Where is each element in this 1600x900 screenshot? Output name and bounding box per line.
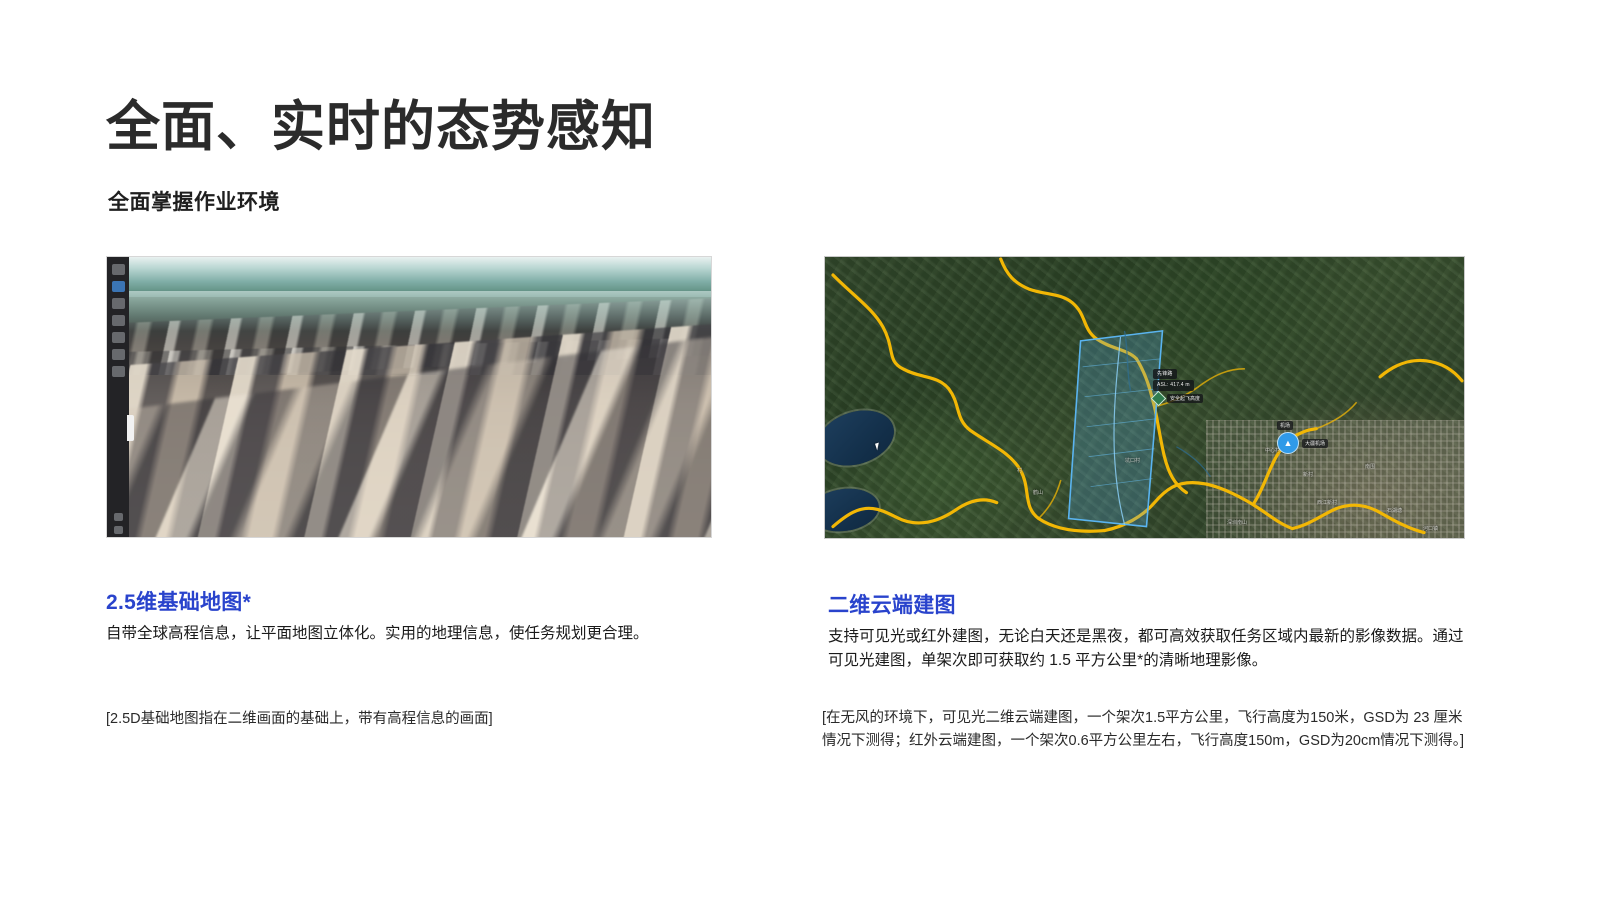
map-vector-overlay [825,257,1464,539]
place-label: 河口镇 [1423,525,1438,532]
layers-icon[interactable] [112,264,125,275]
panel-icon[interactable] [114,526,123,534]
terrain-toolbar-rail[interactable] [107,257,129,537]
place-label: 村 [1017,467,1022,474]
media-icon[interactable] [112,366,125,377]
left-column [106,256,712,538]
panel-collapse-handle[interactable] [127,415,134,441]
place-label: 新村 [1303,471,1313,478]
terrain-near-ridges [107,375,711,537]
left-caption-body: 自带全球高程信息，让平面地图立体化。实用的地理信息，使任务规划更合理。 [106,622,706,646]
marker-icon[interactable] [112,315,125,326]
page-subtitle: 全面掌握作业环境 [108,186,280,216]
rectangle-tool-icon[interactable] [112,332,125,343]
place-label: 南围 [1365,463,1375,470]
mission-area-polygon[interactable] [1069,331,1163,527]
place-label: 西江新村 [1317,499,1337,506]
terrain-icon[interactable] [112,298,125,309]
terrain-render [107,257,711,537]
slide-root: 全面、实时的态势感知 全面掌握作业环境 [0,0,1600,900]
page-title: 全面、实时的态势感知 [106,98,656,157]
left-caption-heading: 2.5维基础地图* [106,586,706,616]
right-caption-heading: 二维云端建图 [828,589,1476,619]
satellite-imagery: 先锋路 ASL: 417.4 m 安全起飞高度 机场 ▲ 大疆机场 [825,257,1464,538]
terrain-map-viewport[interactable] [106,256,712,538]
place-label: 深圳南山 [1227,519,1247,526]
place-label: 石湖塘 [1387,507,1402,514]
satellite-map-viewport[interactable]: 先锋路 ASL: 417.4 m 安全起飞高度 机场 ▲ 大疆机场 [824,256,1465,539]
right-column: 先锋路 ASL: 417.4 m 安全起飞高度 机场 ▲ 大疆机场 [824,256,1465,539]
place-label: 鹤山 [1033,489,1043,496]
place-label: 中心村 [1265,447,1280,454]
settings-icon[interactable] [114,513,123,521]
right-caption-block: 二维云端建图 支持可见光或红外建图，无论白天还是黑夜，都可高效获取任务区域内最新… [828,589,1476,672]
left-caption-block: 2.5维基础地图* 自带全球高程信息，让平面地图立体化。实用的地理信息，使任务规… [106,586,706,646]
right-footnote: [在无风的环境下，可见光二维云端建图，一个架次1.5平方公里，飞行高度为150米… [822,707,1474,753]
left-footnote: [2.5D基础地图指在二维画面的基础上，带有高程信息的画面] [106,708,726,731]
route-tool-icon[interactable] [112,349,125,360]
cloud-map-icon[interactable] [112,281,125,292]
place-label: 坑口村 [1125,457,1140,464]
right-caption-body: 支持可见光或红外建图，无论白天还是黑夜，都可高效获取任务区域内最新的影像数据。通… [828,625,1476,672]
